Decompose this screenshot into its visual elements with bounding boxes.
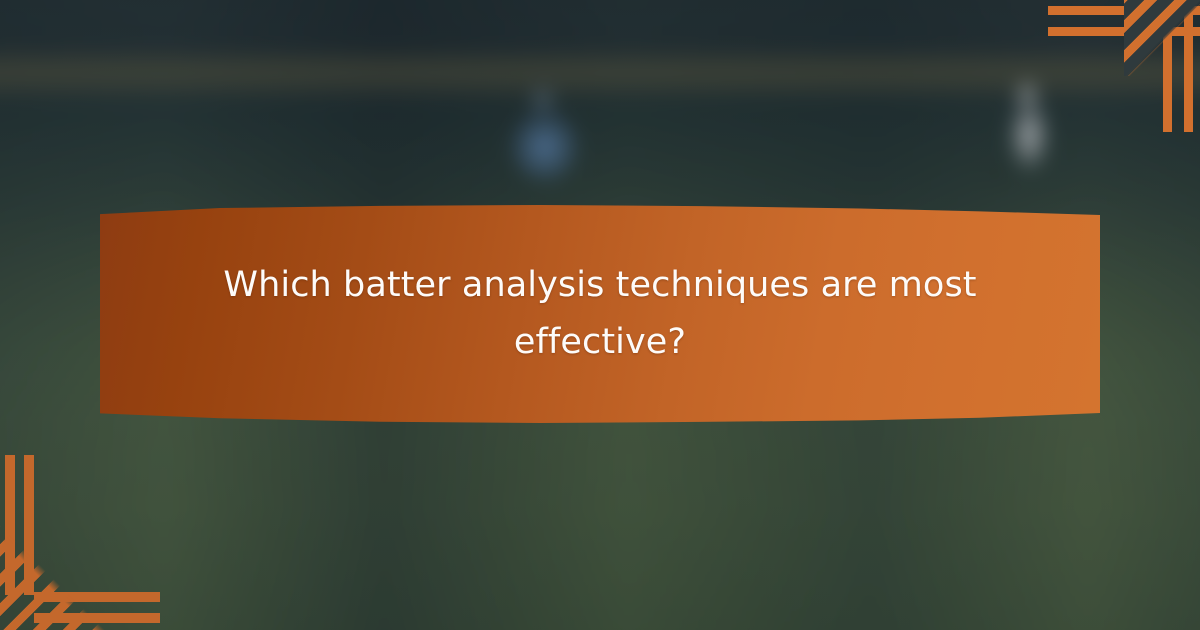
question-card: Which batter analysis techniques are mos… bbox=[0, 0, 1200, 630]
question-text: Which batter analysis techniques are mos… bbox=[100, 205, 1100, 423]
question-banner: Which batter analysis techniques are mos… bbox=[100, 205, 1100, 423]
